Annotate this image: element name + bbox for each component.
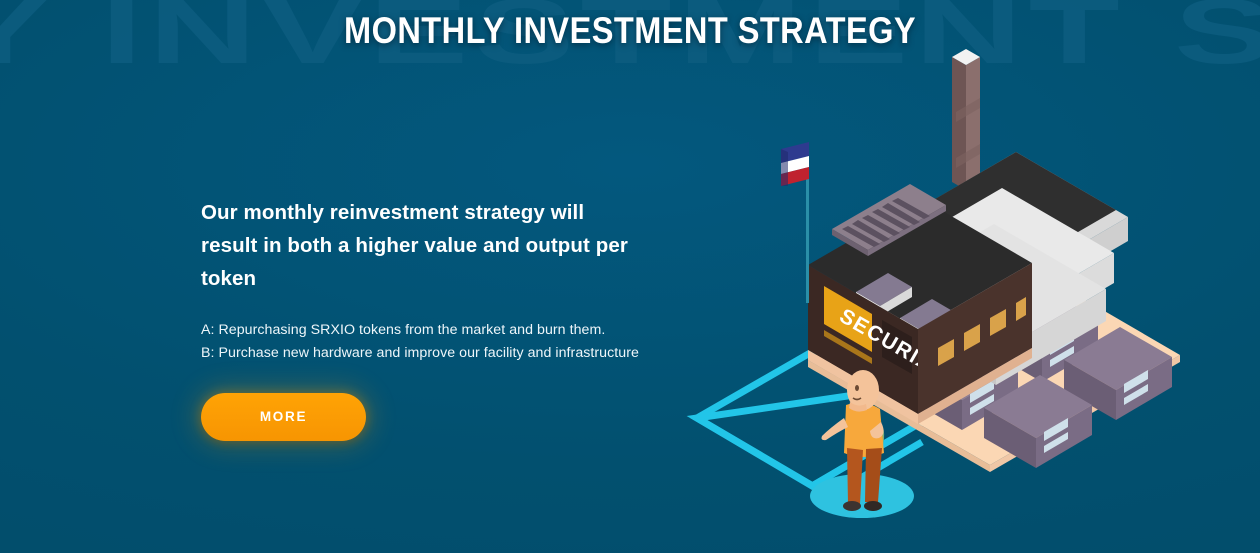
flag-icon <box>781 142 809 303</box>
page-title: MONTHLY INVESTMENT STRATEGY <box>0 11 1260 52</box>
bullet-a: A: Repurchasing SRXIO tokens from the ma… <box>201 319 671 342</box>
page-title-label: MONTHLY INVESTMENT STRATEGY <box>344 11 916 52</box>
facility-illustration: SECURIX <box>660 30 1260 553</box>
more-button[interactable]: MORE <box>201 393 366 441</box>
person-eye <box>855 385 859 391</box>
strategy-heading: Our monthly reinvestment strategy will r… <box>201 196 633 296</box>
person-shoe-left <box>843 501 861 511</box>
person-platform <box>810 474 914 518</box>
chimney-icon <box>952 49 980 190</box>
bullet-b: B: Purchase new hardware and improve our… <box>201 342 671 365</box>
slide-root: THLY INVESTMENT STRA MONTHLY INVESTMENT … <box>0 0 1260 553</box>
person-arm-left <box>822 418 849 440</box>
strategy-bullets: A: Repurchasing SRXIO tokens from the ma… <box>201 319 671 365</box>
copy-block: Our monthly reinvestment strategy will r… <box>201 196 671 441</box>
person-shoe-right <box>864 501 882 511</box>
